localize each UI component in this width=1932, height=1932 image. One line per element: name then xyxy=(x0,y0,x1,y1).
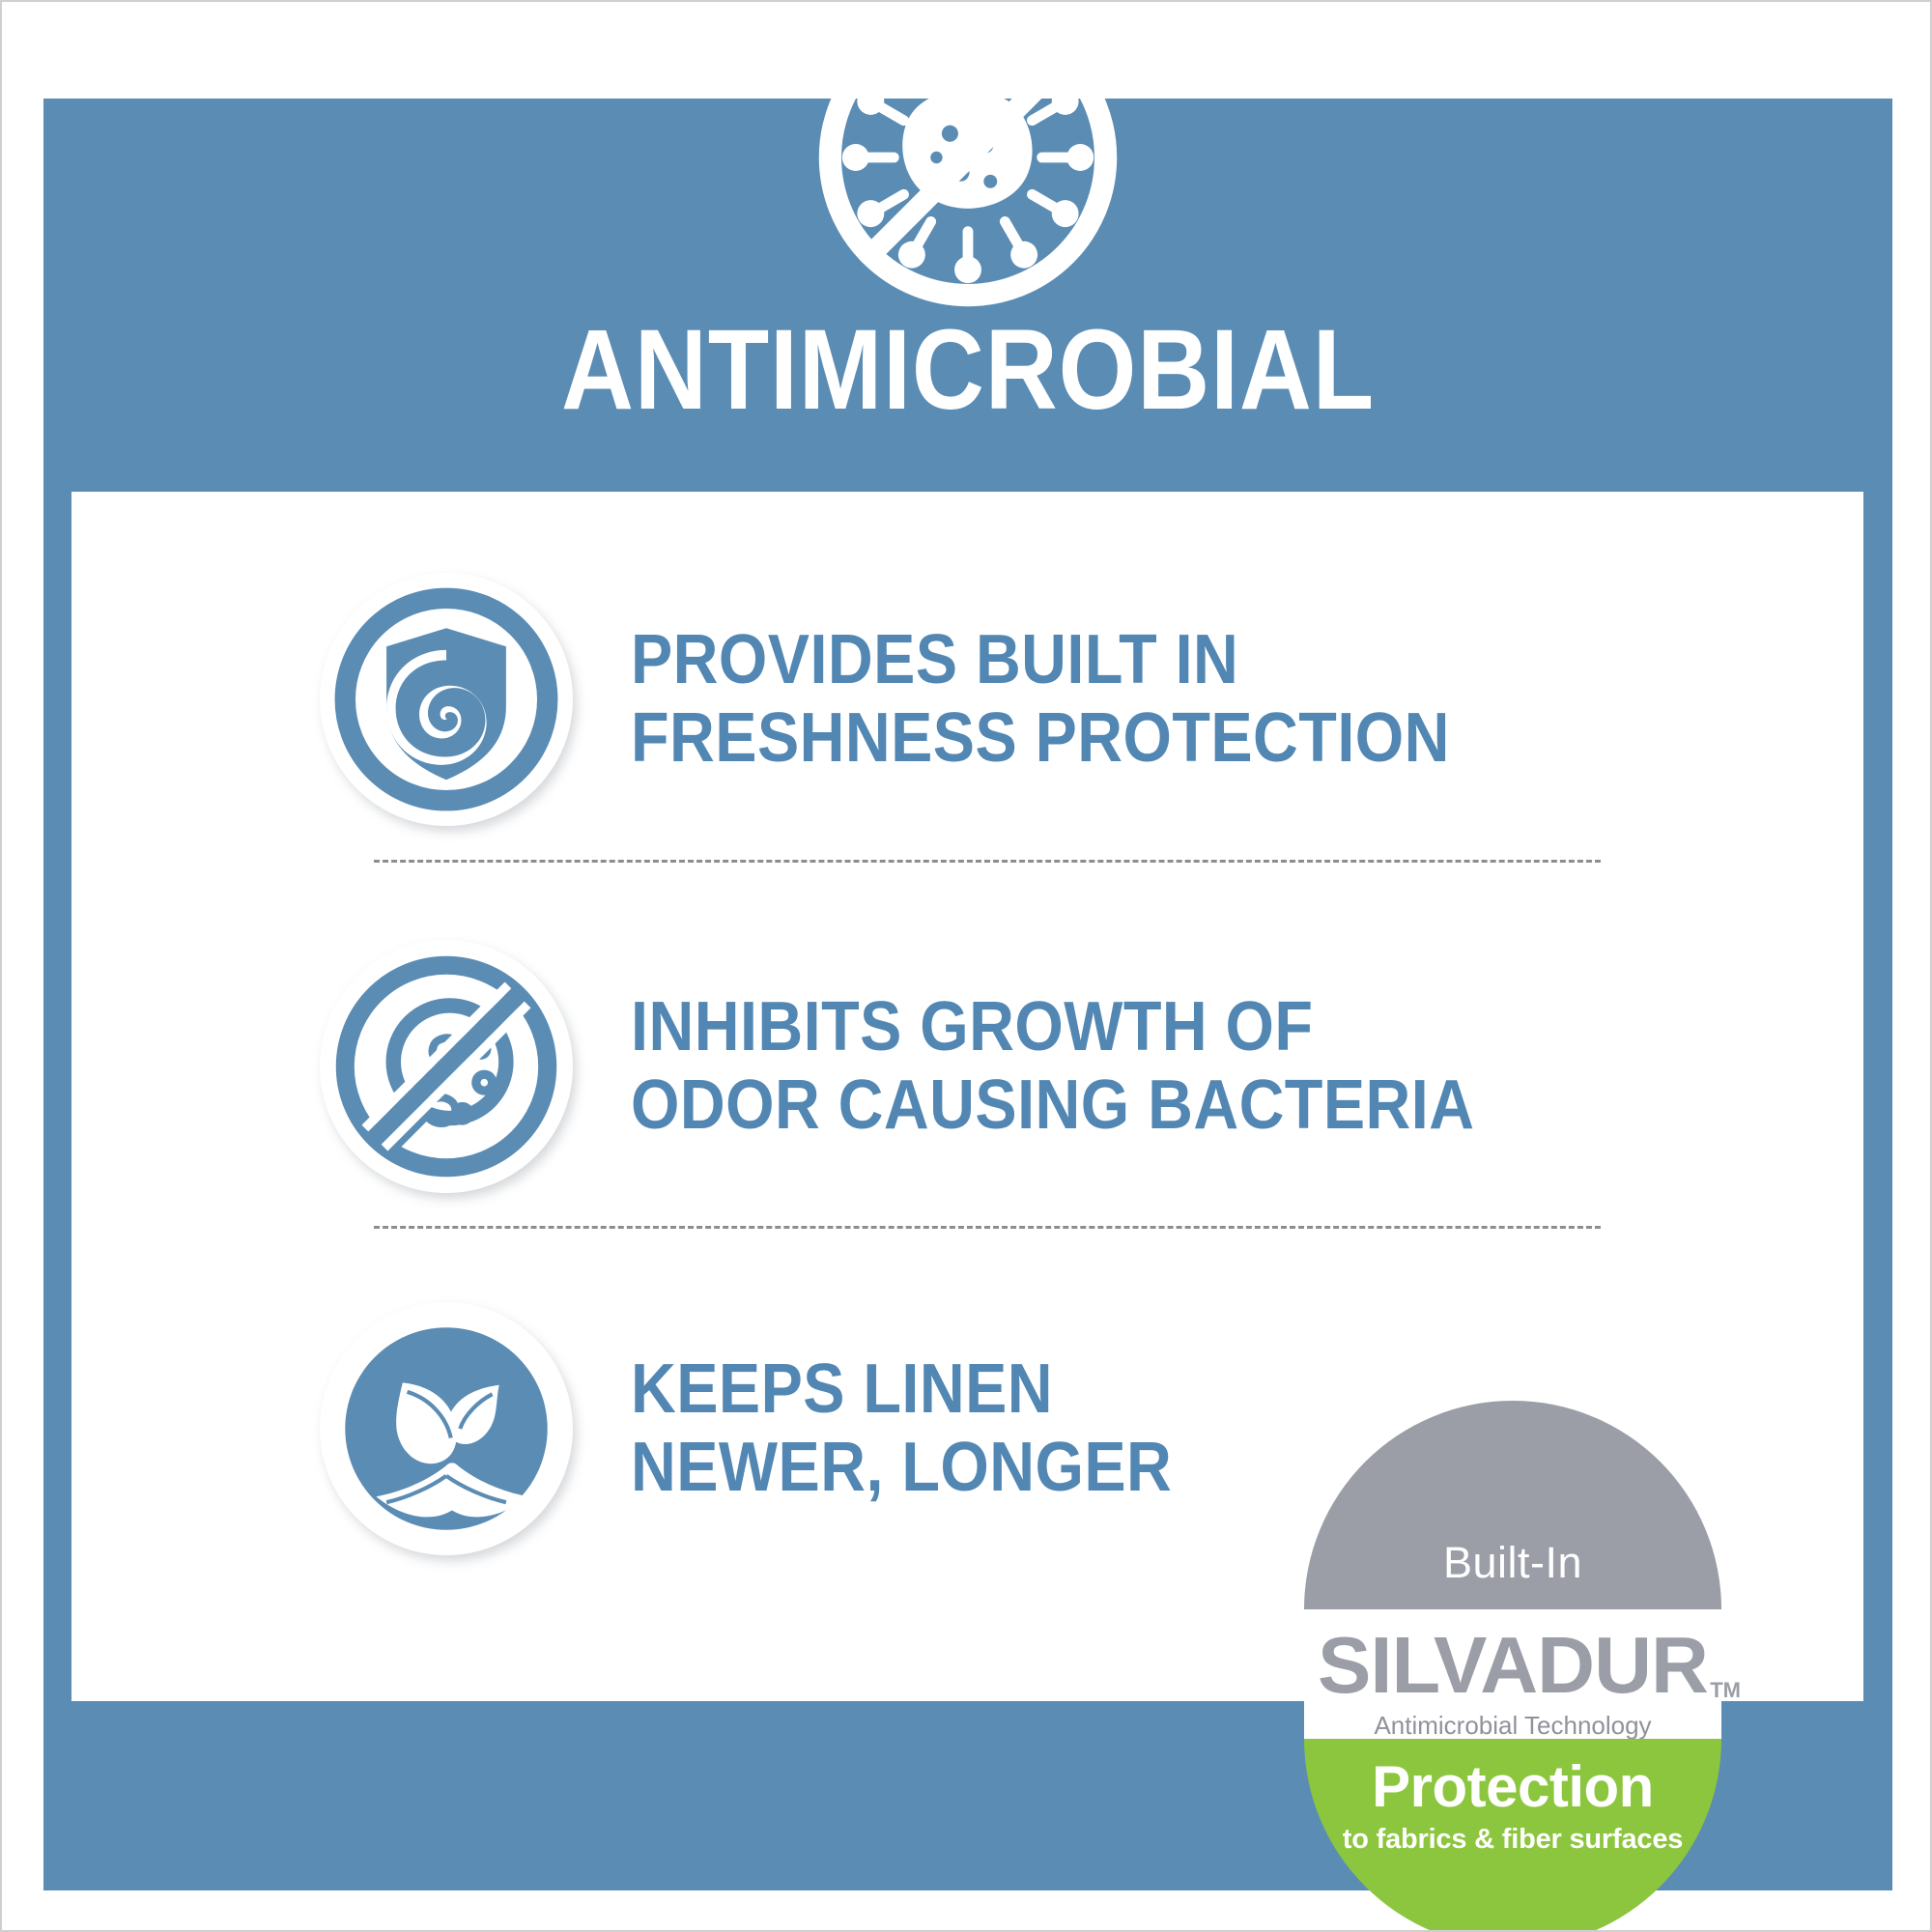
silvadur-top-arc: Built-In xyxy=(1304,1401,1721,1609)
feature-row: PROVIDES BUILT IN FRESHNESS PROTECTION xyxy=(71,540,1863,859)
feature-text: KEEPS LINEN NEWER, LONGER xyxy=(631,1350,1172,1506)
silvadur-built-in-label: Built-In xyxy=(1443,1541,1582,1609)
silvadur-brand-block: SILVADURTM Antimicrobial Technology xyxy=(1304,1609,1721,1739)
feature-row: INHIBITS GROWTH OF ODOR CAUSING BACTERIA xyxy=(71,907,1863,1226)
shield-spiral-icon xyxy=(320,573,573,826)
divider xyxy=(374,860,1601,863)
protection-label: Protection xyxy=(1304,1739,1721,1816)
page-title: ANTIMICROBIAL xyxy=(155,313,1781,427)
infographic-poster: ANTIMICROBIAL PROVIDES BUILT IN FRESHNES… xyxy=(0,0,1932,1932)
feature-text: PROVIDES BUILT IN FRESHNESS PROTECTION xyxy=(631,621,1450,777)
protection-sublabel: to fabrics & fiber surfaces xyxy=(1304,1826,1721,1854)
trademark-icon: TM xyxy=(1710,1680,1741,1701)
feature-text: INHIBITS GROWTH OF ODOR CAUSING BACTERIA xyxy=(631,988,1474,1144)
silvadur-badge: Built-In SILVADURTM Antimicrobial Techno… xyxy=(1304,1401,1721,1845)
no-virus-icon xyxy=(818,8,1118,307)
silvadur-brand-name: SILVADURTM xyxy=(1318,1609,1708,1705)
leaf-plant-icon xyxy=(320,1302,573,1555)
silvadur-bottom-arc: Protection to fabrics & fiber surfaces xyxy=(1304,1739,1721,1932)
silvadur-brand-text: SILVADUR xyxy=(1318,1620,1708,1710)
no-bacteria-magnifier-icon xyxy=(320,940,573,1193)
silvadur-tagline: Antimicrobial Technology xyxy=(1304,1713,1721,1738)
divider xyxy=(374,1226,1601,1229)
